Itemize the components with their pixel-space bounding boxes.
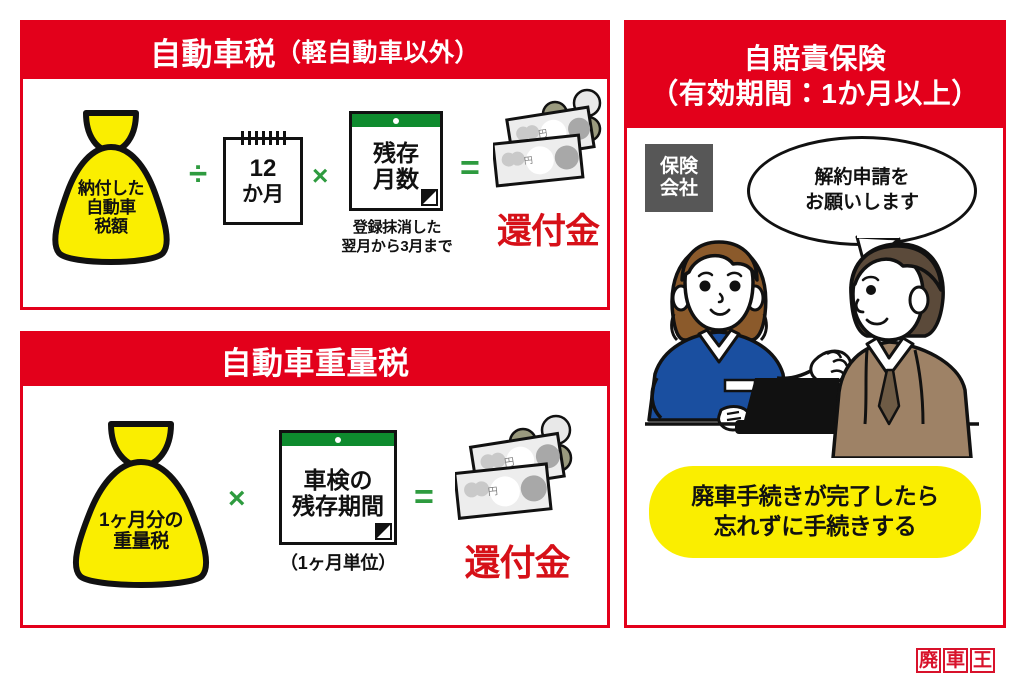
money-bag-paid-tax: 納付した 自動車 税額: [41, 107, 181, 267]
card-dogear-icon: [421, 189, 438, 206]
brand-logo-char-2: 車: [943, 648, 968, 673]
calendar-twelve-months: 12 か月: [223, 137, 303, 225]
card-top-bar: [352, 114, 440, 127]
cta-complete-procedure: 廃車手続きが完了したら 忘れずに手続きする: [649, 466, 981, 558]
brand-logo-haishaou[interactable]: 廃 車 王: [916, 648, 995, 673]
svg-text:円: 円: [487, 486, 498, 498]
money-bag-monthly-weight-tax-label: 1ヶ月分の 重量税: [59, 510, 223, 553]
card-top-bar: [282, 433, 394, 446]
panel-jibaiseki-body: 保険 会社 解約申請を お願いします: [627, 128, 1003, 625]
panel-weight-tax-body: 1ヶ月分の 重量税 × 車検の 残存期間 （1ヶ月単位） =: [23, 386, 607, 625]
refund-money-illustration: 円 円: [493, 85, 605, 195]
calendar-twelve-months-label: 12 か月: [242, 156, 284, 205]
refund-label-weight-tax: 還付金: [449, 534, 585, 586]
operator-equals: =: [460, 151, 480, 185]
card-remaining-inspection-period-note: （1ヶ月単位）: [273, 552, 403, 575]
panel-jibaiseki-title: 自賠責保険: [744, 41, 887, 76]
refund-label-automobile-tax: 還付金: [485, 203, 611, 254]
card-remaining-months-note: 登録抹消した 翌月から3月まで: [326, 219, 468, 257]
brand-logo-char-3: 王: [970, 648, 995, 673]
card-dogear-icon: [375, 523, 392, 540]
panel-automobile-tax: 自動車税（軽自動車以外） 納付した 自動車 税額 ÷: [20, 20, 610, 310]
panel-jibaiseki-header: 自賠責保険 （有効期間：1か月以上）: [627, 23, 1003, 128]
operator-multiply: ×: [312, 162, 328, 190]
money-bag-paid-tax-label: 納付した 自動車 税額: [41, 179, 181, 236]
operator-multiply: ×: [228, 484, 246, 514]
speech-bubble-text: 解約申請を お願いします: [805, 166, 919, 215]
panel-jibaiseki-subtitle: （有効期間：1か月以上）: [650, 76, 980, 111]
operator-equals: =: [414, 480, 434, 514]
card-remaining-months: 残存 月数: [349, 111, 443, 211]
panel-weight-tax-header: 自動車重量税: [23, 334, 607, 386]
panel-automobile-tax-subtitle: （軽自動車以外）: [276, 33, 480, 69]
card-remaining-inspection-period-label: 車検の 残存期間: [292, 468, 384, 520]
brand-logo-char-1: 廃: [916, 648, 941, 673]
refund-money-illustration: 円 円: [455, 410, 577, 528]
insurance-consultation-illustration: [627, 228, 1003, 458]
insurance-company-tag: 保険 会社: [645, 144, 713, 212]
card-remaining-inspection-period: 車検の 残存期間: [279, 430, 397, 545]
cta-complete-procedure-text: 廃車手続きが完了したら 忘れずに手続きする: [691, 482, 939, 542]
panel-weight-tax-title: 自動車重量税: [221, 338, 410, 383]
calendar-rings-icon: [226, 131, 300, 145]
money-bag-monthly-weight-tax: 1ヶ月分の 重量税: [59, 418, 223, 588]
panel-weight-tax: 自動車重量税 1ヶ月分の 重量税 × 車検の: [20, 331, 610, 628]
panel-automobile-tax-body: 納付した 自動車 税額 ÷ 12 か月 × 残存: [23, 79, 607, 307]
panel-jibaiseki-insurance: 自賠責保険 （有効期間：1か月以上） 保険 会社 解約申請を お願いします: [624, 20, 1006, 628]
card-remaining-months-label: 残存 月数: [373, 141, 419, 193]
svg-text:円: 円: [523, 155, 533, 166]
panel-automobile-tax-header: 自動車税（軽自動車以外）: [23, 23, 607, 79]
panel-automobile-tax-title: 自動車税: [150, 29, 276, 74]
operator-divide: ÷: [189, 157, 207, 190]
infographic-root: 自動車税（軽自動車以外） 納付した 自動車 税額 ÷: [0, 0, 1024, 683]
